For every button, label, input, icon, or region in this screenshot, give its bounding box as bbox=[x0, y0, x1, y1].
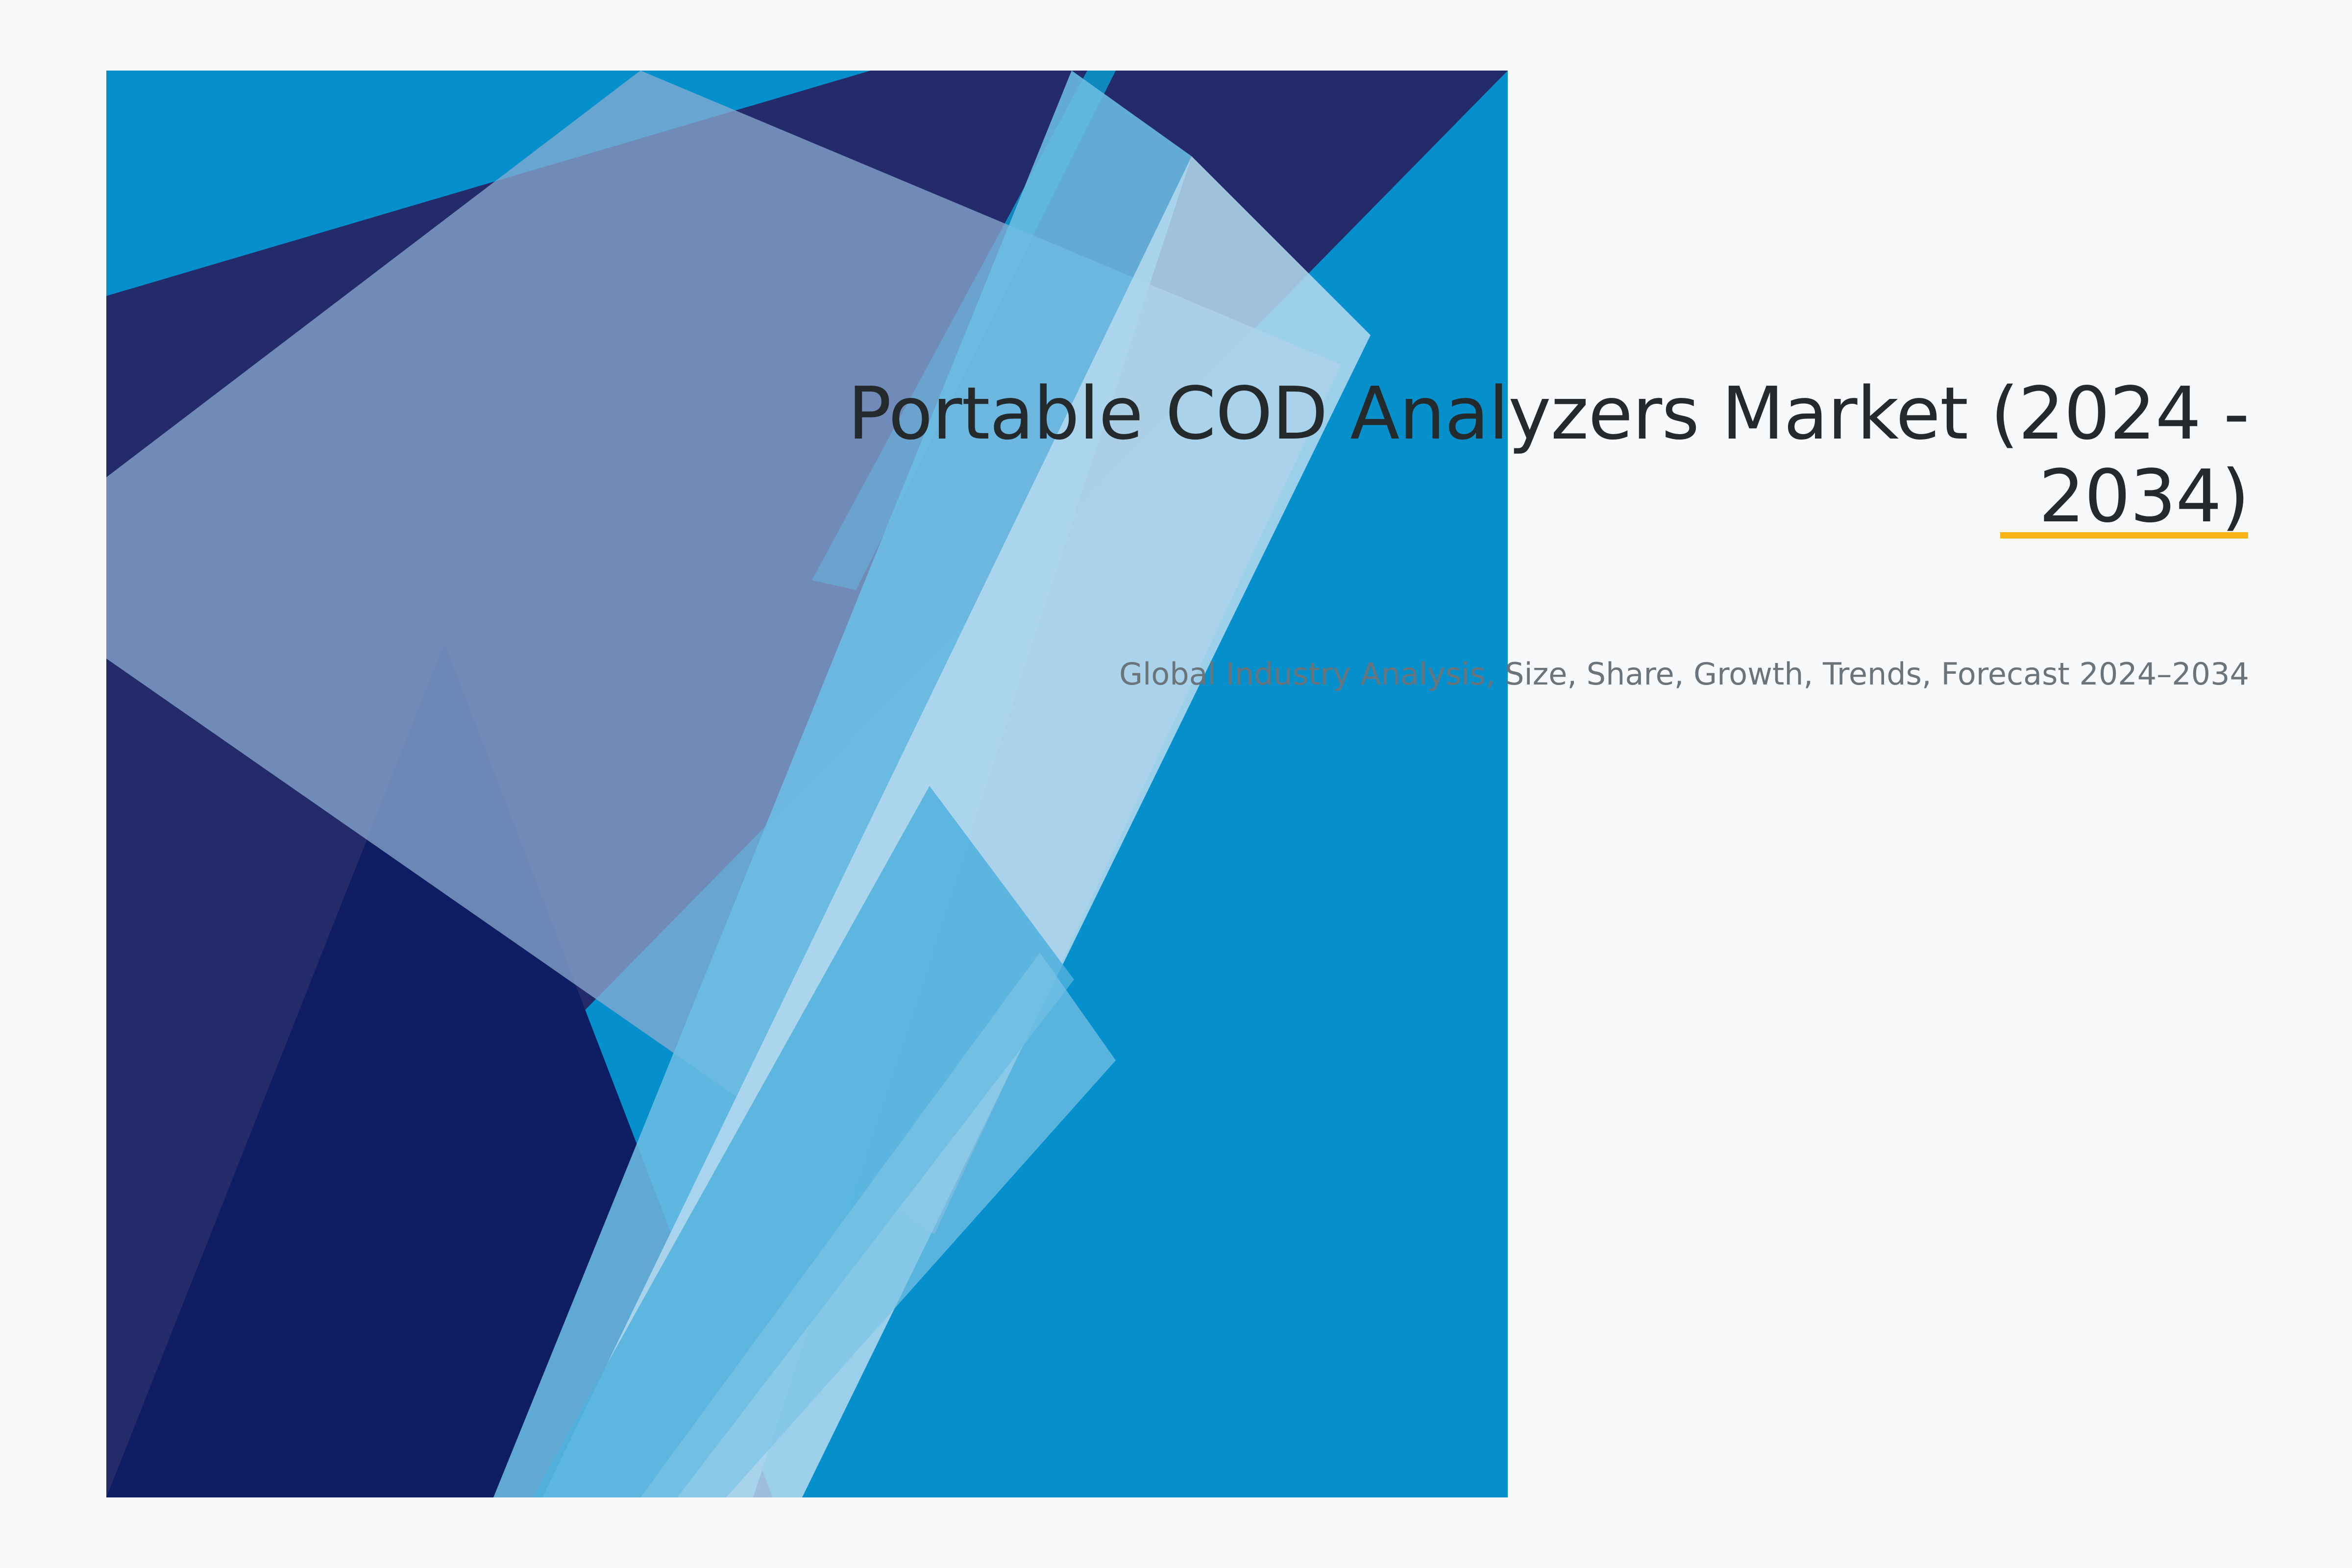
cover-text-block: Portable COD Analyzers Market (2024 - 20… bbox=[764, 372, 2249, 538]
page-subtitle: Global Industry Analysis, Size, Share, G… bbox=[764, 655, 2249, 694]
cover-page: Portable COD Analyzers Market (2024 - 20… bbox=[0, 0, 2352, 1568]
abstract-geometric-artwork bbox=[106, 71, 1508, 1497]
title-underline-accent bbox=[2000, 532, 2248, 539]
artwork-svg bbox=[106, 71, 1508, 1497]
page-title: Portable COD Analyzers Market (2024 - 20… bbox=[764, 372, 2249, 538]
